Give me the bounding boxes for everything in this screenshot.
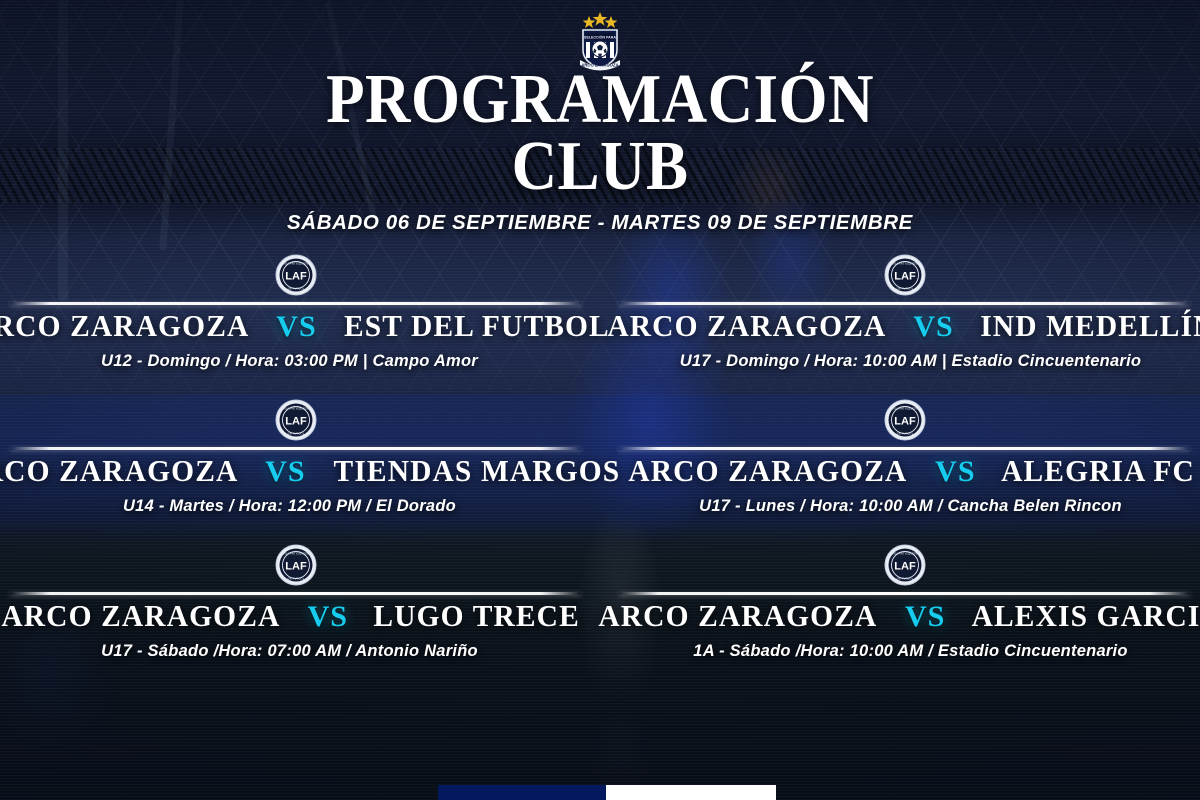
svg-text:LIGA ANTIOQUEÑA: LIGA ANTIOQUEÑA xyxy=(282,550,309,555)
match-card[interactable]: LAF LIGA ANTIOQUEÑA DE FUTBOL ARCO ZARAG… xyxy=(0,395,591,540)
match-meta: 1A - Sábado /Hora: 10:00 AM / Estadio Ci… xyxy=(609,642,1200,661)
match-meta: U14 - Martes / Hora: 12:00 PM / El Dorad… xyxy=(0,497,591,516)
vs-label: VS xyxy=(308,600,348,634)
page-title: PROGRAMACIÓN CLUB xyxy=(60,66,1140,200)
svg-text:DE FUTBOL: DE FUTBOL xyxy=(896,286,913,290)
home-team: ARCO ZARAGOZA xyxy=(599,598,878,634)
bottom-bar-white xyxy=(606,785,776,800)
match-teams: ARCO ZARAGOZA VS IND MEDELLÍN xyxy=(609,308,1200,344)
svg-text:DE FUTBOL: DE FUTBOL xyxy=(896,576,913,580)
svg-text:LIGA ANTIOQUEÑA: LIGA ANTIOQUEÑA xyxy=(891,260,918,265)
laf-seal-icon: LAF LIGA ANTIOQUEÑA DE FUTBOL xyxy=(884,544,926,586)
laf-seal-icon: LAF LIGA ANTIOQUEÑA DE FUTBOL xyxy=(884,254,926,296)
title-line-1: PROGRAMACIÓN xyxy=(326,61,874,138)
svg-text:SELECCIÓN PARA: SELECCIÓN PARA xyxy=(584,34,616,39)
svg-text:LAF: LAF xyxy=(894,416,916,428)
svg-text:DE FUTBOL: DE FUTBOL xyxy=(287,576,304,580)
away-team: IND MEDELLÍN xyxy=(980,308,1200,344)
away-team: TIENDAS MARGOS xyxy=(333,453,620,489)
home-team: ARCO ZARAGOZA xyxy=(0,308,249,344)
svg-text:LAF: LAF xyxy=(894,271,916,283)
title-line-2: CLUB xyxy=(60,133,1140,200)
svg-text:DE FUTBOL: DE FUTBOL xyxy=(287,286,304,290)
laf-seal-icon: LAF LIGA ANTIOQUEÑA DE FUTBOL xyxy=(275,544,317,586)
svg-text:DE FUTBOL: DE FUTBOL xyxy=(287,431,304,435)
home-team: ARCO ZARAGOZA xyxy=(0,453,238,489)
match-divider xyxy=(619,302,1190,305)
match-meta: U17 - Sábado /Hora: 07:00 AM / Antonio N… xyxy=(0,642,591,661)
programacion-club-poster: SELECCIÓN PARA ARCO ZARAGOZA xyxy=(0,0,1200,800)
laf-seal-icon: LAF LIGA ANTIOQUEÑA DE FUTBOL xyxy=(275,254,317,296)
svg-text:DE FUTBOL: DE FUTBOL xyxy=(896,431,913,435)
match-divider xyxy=(10,302,581,305)
svg-text:LAF: LAF xyxy=(894,561,916,573)
match-card[interactable]: LAF LIGA ANTIOQUEÑA DE FUTBOL ARCO ZARAG… xyxy=(609,540,1200,685)
match-teams: ARCO ZARAGOZA VS ALEGRIA FC xyxy=(609,453,1200,489)
vs-label: VS xyxy=(276,310,316,344)
svg-text:LAF: LAF xyxy=(285,416,307,428)
match-divider xyxy=(619,447,1190,450)
match-teams: ARCO ZARAGOZA VS TIENDAS MARGOS xyxy=(0,453,591,489)
match-teams: ARCO ZARAGOZA VS ALEXIS GARCIA xyxy=(609,598,1200,634)
vs-label: VS xyxy=(905,600,945,634)
away-team: ALEXIS GARCIA xyxy=(972,598,1200,634)
home-team: ARCO ZARAGOZA xyxy=(629,453,908,489)
svg-text:LAF: LAF xyxy=(285,271,307,283)
away-team: ALEGRIA FC xyxy=(1001,453,1195,489)
match-meta: U17 - Lunes / Hora: 10:00 AM / Cancha Be… xyxy=(609,497,1200,516)
poster-content: SELECCIÓN PARA ARCO ZARAGOZA xyxy=(0,0,1200,800)
laf-seal-icon: LAF LIGA ANTIOQUEÑA DE FUTBOL xyxy=(884,399,926,441)
home-team: ARCO ZARAGOZA xyxy=(1,598,280,634)
match-card[interactable]: LAF LIGA ANTIOQUEÑA DE FUTBOL ARCO ZARAG… xyxy=(609,395,1200,540)
svg-text:LAF: LAF xyxy=(285,561,307,573)
away-team: EST DEL FUTBOL xyxy=(344,308,610,344)
match-card[interactable]: LAF LIGA ANTIOQUEÑA DE FUTBOL ARCO ZARAG… xyxy=(0,540,591,685)
vs-label: VS xyxy=(935,455,975,489)
bottom-accent-bars xyxy=(438,785,776,800)
date-range-subtitle: SÁBADO 06 DE SEPTIEMBRE - MARTES 09 DE S… xyxy=(0,211,1200,235)
vs-label: VS xyxy=(913,310,953,344)
match-grid: LAF LIGA ANTIOQUEÑA DE FUTBOL ARCO ZARAG… xyxy=(0,250,1200,685)
match-meta: U12 - Domingo / Hora: 03:00 PM | Campo A… xyxy=(0,352,591,371)
match-divider xyxy=(10,447,581,450)
match-meta: U17 - Domingo / Hora: 10:00 AM | Estadio… xyxy=(609,352,1200,371)
match-card[interactable]: LAF LIGA ANTIOQUEÑA DE FUTBOL ARCO ZARAG… xyxy=(0,250,591,395)
svg-text:LIGA ANTIOQUEÑA: LIGA ANTIOQUEÑA xyxy=(891,405,918,410)
svg-text:LIGA ANTIOQUEÑA: LIGA ANTIOQUEÑA xyxy=(282,405,309,410)
match-teams: ARCO ZARAGOZA VS EST DEL FUTBOL xyxy=(0,308,591,344)
vs-label: VS xyxy=(265,455,305,489)
svg-text:LIGA ANTIOQUEÑA: LIGA ANTIOQUEÑA xyxy=(891,550,918,555)
laf-seal-icon: LAF LIGA ANTIOQUEÑA DE FUTBOL xyxy=(275,399,317,441)
home-team: ARCO ZARAGOZA xyxy=(607,308,886,344)
match-divider xyxy=(10,592,581,595)
match-teams: ARCO ZARAGOZA VS LUGO TRECE xyxy=(0,598,591,634)
away-team: LUGO TRECE xyxy=(373,598,579,634)
svg-text:LIGA ANTIOQUEÑA: LIGA ANTIOQUEÑA xyxy=(282,260,309,265)
match-divider xyxy=(619,592,1190,595)
match-card[interactable]: LAF LIGA ANTIOQUEÑA DE FUTBOL ARCO ZARAG… xyxy=(609,250,1200,395)
bottom-bar-navy xyxy=(438,785,606,800)
